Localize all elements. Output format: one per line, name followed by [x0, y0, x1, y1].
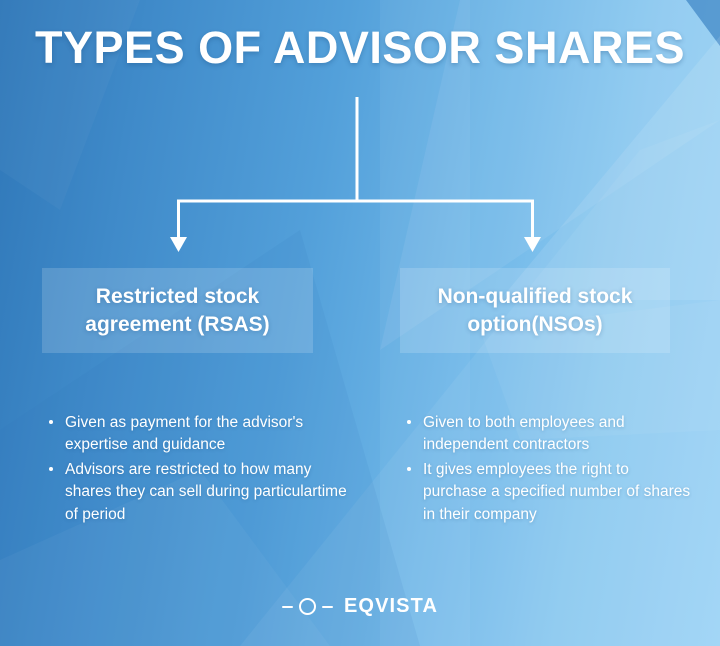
footer-logo: EQVISTA [0, 595, 720, 618]
branch-heading-label-right: Non-qualified stock option(NSOs) [414, 283, 656, 338]
arrowhead-left-icon [170, 237, 187, 252]
ring-icon [299, 598, 316, 615]
brand-name: EQVISTA [344, 595, 438, 618]
branch-bullets-right: Given to both employees and independent … [404, 412, 694, 528]
branch-bullets-left: Given as payment for the advisor's exper… [46, 412, 356, 528]
branch-heading-box-left: Restricted stock agreement (RSAS) [42, 268, 313, 353]
branch-heading-label-left: Restricted stock agreement (RSAS) [56, 283, 299, 338]
list-item: Advisors are restricted to how many shar… [46, 459, 356, 526]
branch-heading-box-right: Non-qualified stock option(NSOs) [400, 268, 670, 353]
list-item: Given to both employees and independent … [404, 412, 694, 457]
dash-left-icon [282, 606, 293, 608]
infographic-canvas: TYPES OF ADVISOR SHARES Restricted stock… [0, 0, 720, 646]
list-item: It gives employees the right to purchase… [404, 459, 694, 526]
list-item: Given as payment for the advisor's exper… [46, 412, 356, 457]
dash-right-icon [322, 606, 333, 608]
arrowhead-right-icon [524, 237, 541, 252]
